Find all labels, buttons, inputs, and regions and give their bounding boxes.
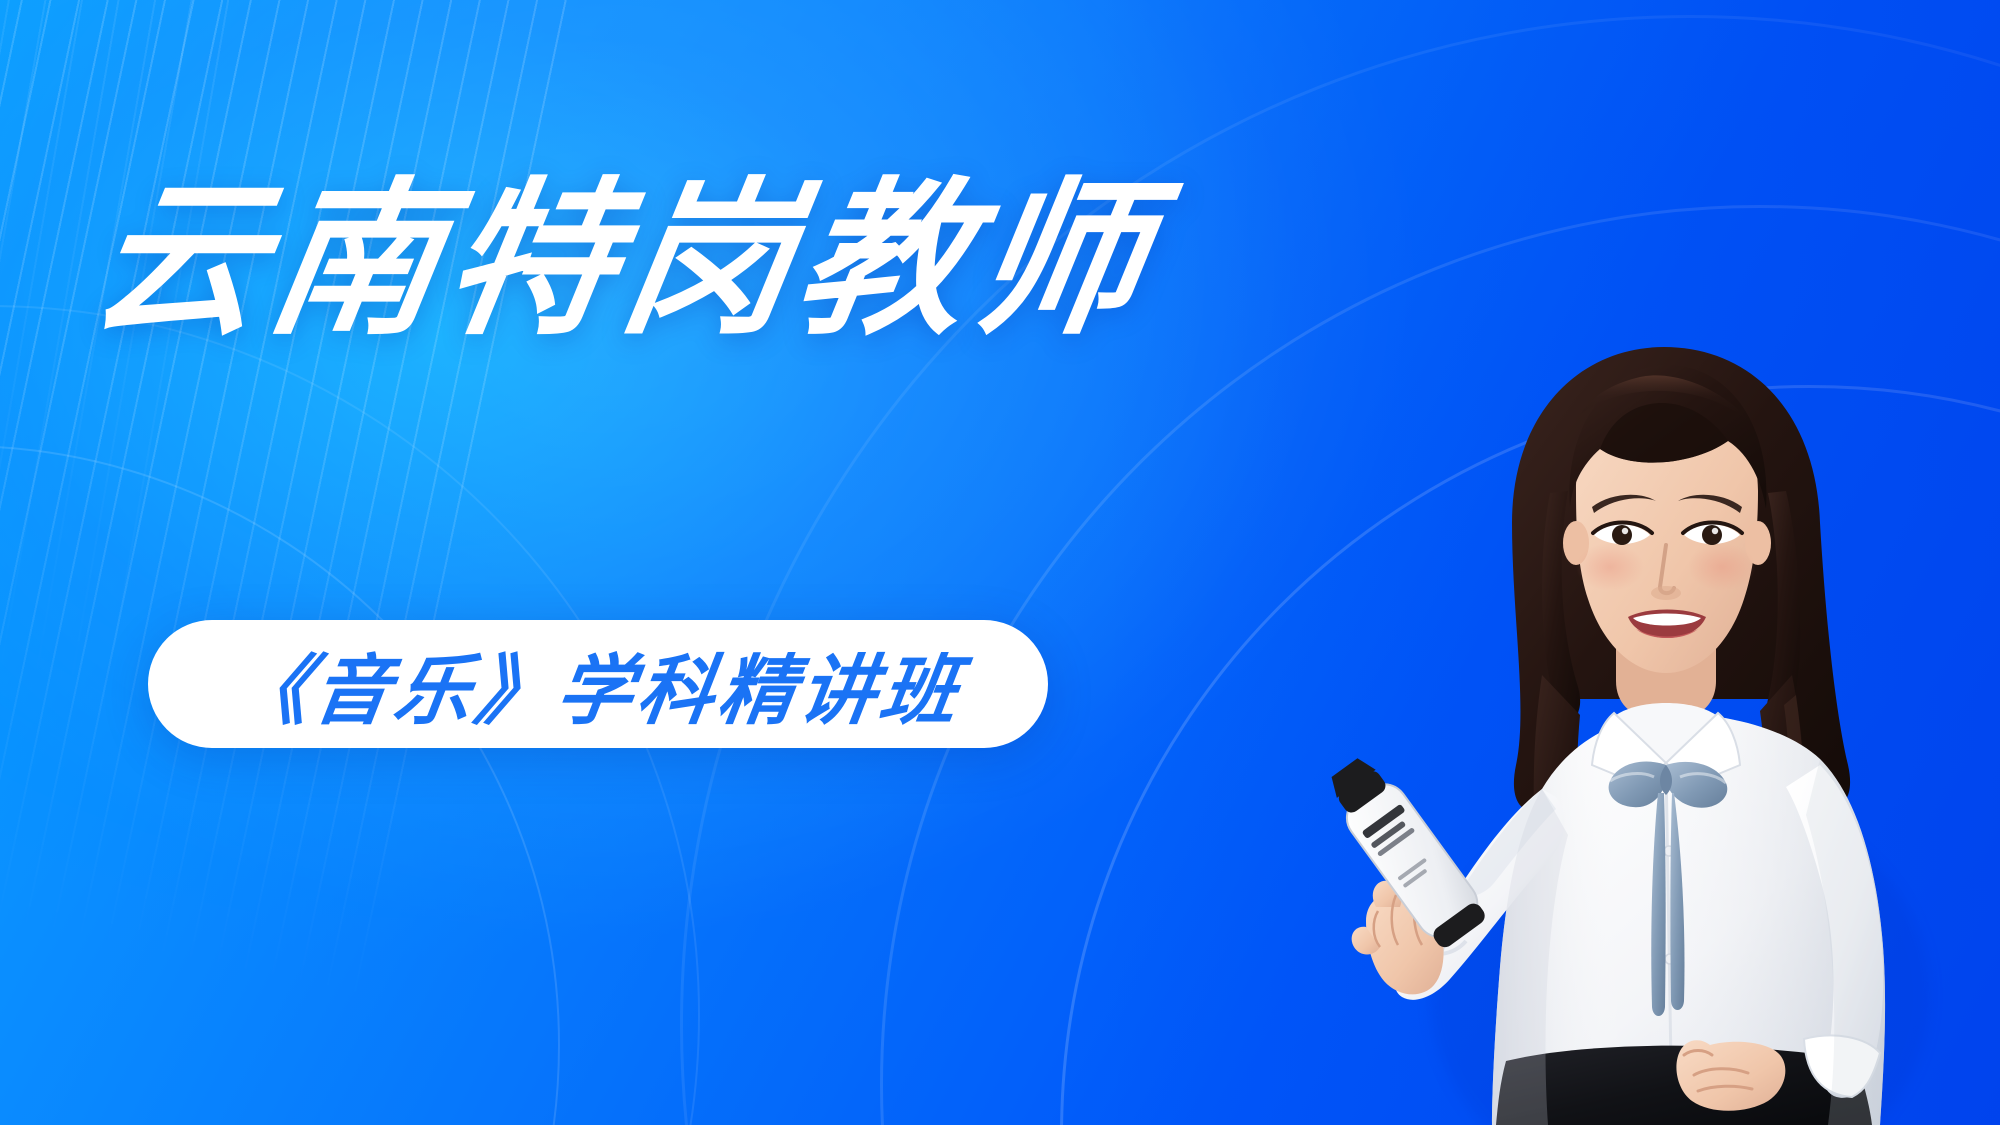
diagonal-lines-decor-secondary: [0, 0, 294, 1004]
arc-decor-bottom-left: [0, 445, 560, 1125]
marker-pen: [1319, 749, 1492, 953]
teacher-figure: [1280, 295, 2000, 1125]
subject-badge-label: 《音乐》学科精讲班: [226, 629, 970, 739]
arc-decor-bottom-right: [1060, 385, 2000, 1125]
subject-badge: 《音乐》学科精讲班: [148, 620, 1048, 748]
course-poster: 云南特岗教师 《音乐》学科精讲班: [0, 0, 2000, 1125]
page-title: 云南特岗教师: [83, 176, 1166, 344]
